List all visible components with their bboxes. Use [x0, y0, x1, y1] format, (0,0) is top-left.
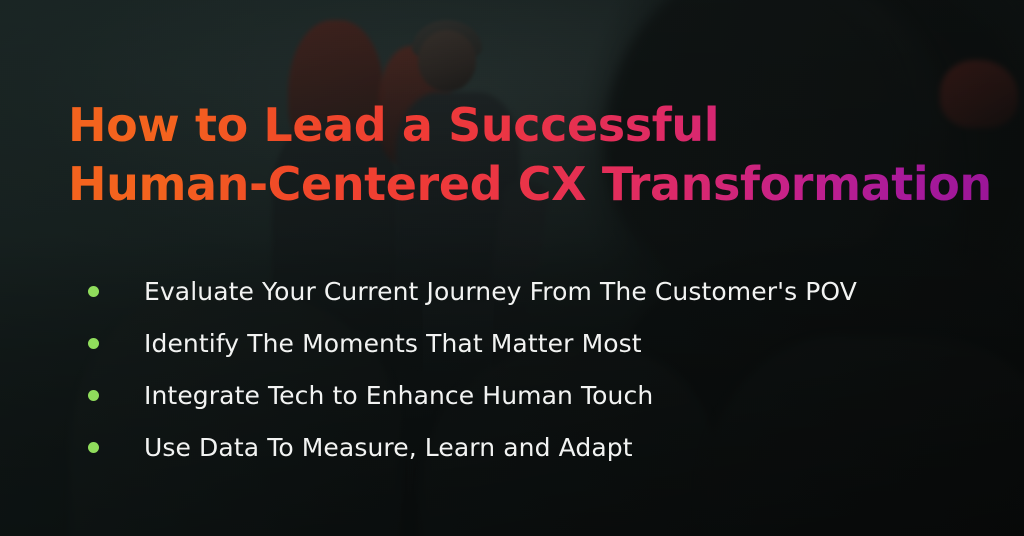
bullet-dot-icon — [88, 286, 99, 297]
list-item-label: Use Data To Measure, Learn and Adapt — [144, 433, 633, 463]
bullet-dot-icon — [88, 442, 99, 453]
page-title-line-1: How to Lead a Successful — [68, 96, 998, 155]
bullet-dot-icon — [88, 390, 99, 401]
list-item: Use Data To Measure, Learn and Adapt — [88, 422, 1024, 473]
bullet-dot-icon — [88, 338, 99, 349]
list-item-label: Integrate Tech to Enhance Human Touch — [144, 381, 653, 411]
list-item: Evaluate Your Current Journey From The C… — [88, 266, 1024, 317]
list-item: Identify The Moments That Matter Most — [88, 318, 1024, 369]
list-item: Integrate Tech to Enhance Human Touch — [88, 370, 1024, 421]
page-title-line-2: Human-Centered CX Transformation — [68, 155, 998, 214]
list-item-label: Evaluate Your Current Journey From The C… — [144, 277, 857, 307]
list-item-label: Identify The Moments That Matter Most — [144, 329, 642, 359]
bullet-list: Evaluate Your Current Journey From The C… — [68, 266, 1024, 473]
page-title: How to Lead a Successful Human-Centered … — [68, 96, 998, 214]
slide-content: How to Lead a Successful Human-Centered … — [0, 0, 1024, 536]
slide-canvas: How to Lead a Successful Human-Centered … — [0, 0, 1024, 536]
